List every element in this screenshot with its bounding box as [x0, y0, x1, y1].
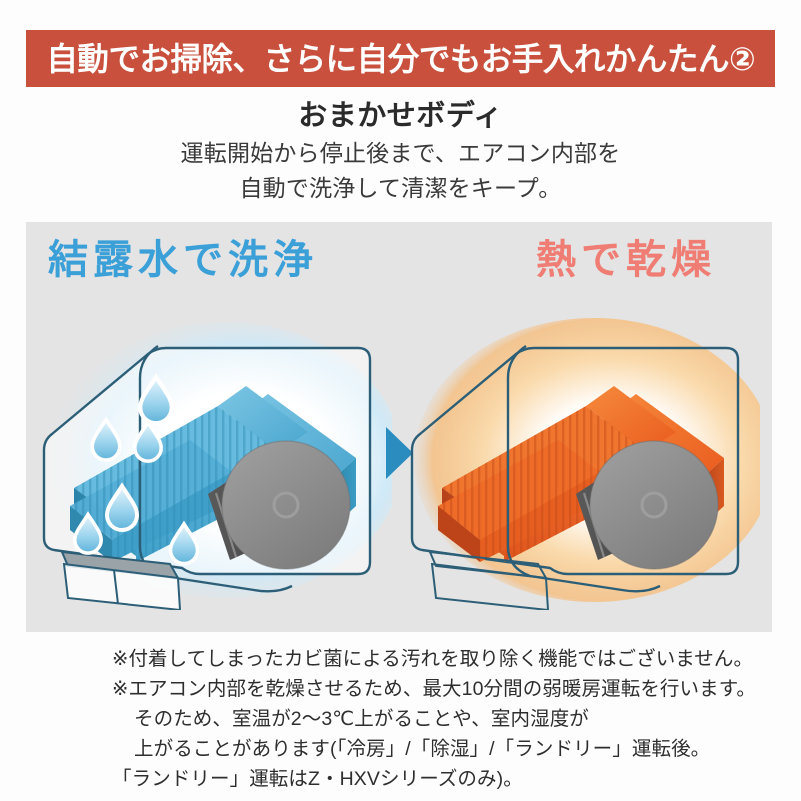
illustration-condensate-wash [40, 310, 392, 610]
footnote-line-2: ※エアコン内部を乾燥させるため、最大10分間の弱暖房運転を行います。 [112, 674, 772, 704]
footnotes: ※付着してしまったカビ菌による汚れを取り除く機能ではございません。 ※エアコン内… [112, 644, 772, 794]
intro-line-2: 自動で洗浄して清潔をキープ。 [0, 171, 801, 206]
illustration-panel: 結露水で洗浄 熱で乾燥 [26, 222, 772, 632]
section-heading-wash: 結露水で洗浄 [48, 240, 318, 280]
intro-title: おまかせボディ [0, 96, 801, 136]
header-title: 自動でお掃除、さらに自分でもお手入れかんたん② [46, 43, 755, 75]
illustration-heat-dry [408, 310, 760, 610]
footnote-line-5: 「ランドリー」運転はZ・HXVシリーズのみ)。 [112, 764, 772, 794]
infographic-page: 自動でお掃除、さらに自分でもお手入れかんたん② おまかせボディ 運転開始から停止… [0, 0, 801, 801]
section-heading-dry: 熱で乾燥 [536, 240, 716, 280]
footnote-line-3: そのため、室温が2〜3℃上がることや、室内湿度が [112, 704, 772, 734]
intro-block: おまかせボディ 運転開始から停止後まで、エアコン内部を 自動で洗浄して清潔をキー… [0, 96, 801, 205]
intro-line-1: 運転開始から停止後まで、エアコン内部を [0, 136, 801, 171]
header-banner: 自動でお掃除、さらに自分でもお手入れかんたん② [26, 30, 775, 87]
footnote-line-4: 上がることがあります(「冷房」/「除湿」/「ランドリー」運転後。 [112, 734, 772, 764]
footnote-line-1: ※付着してしまったカビ菌による汚れを取り除く機能ではございません。 [112, 644, 772, 674]
